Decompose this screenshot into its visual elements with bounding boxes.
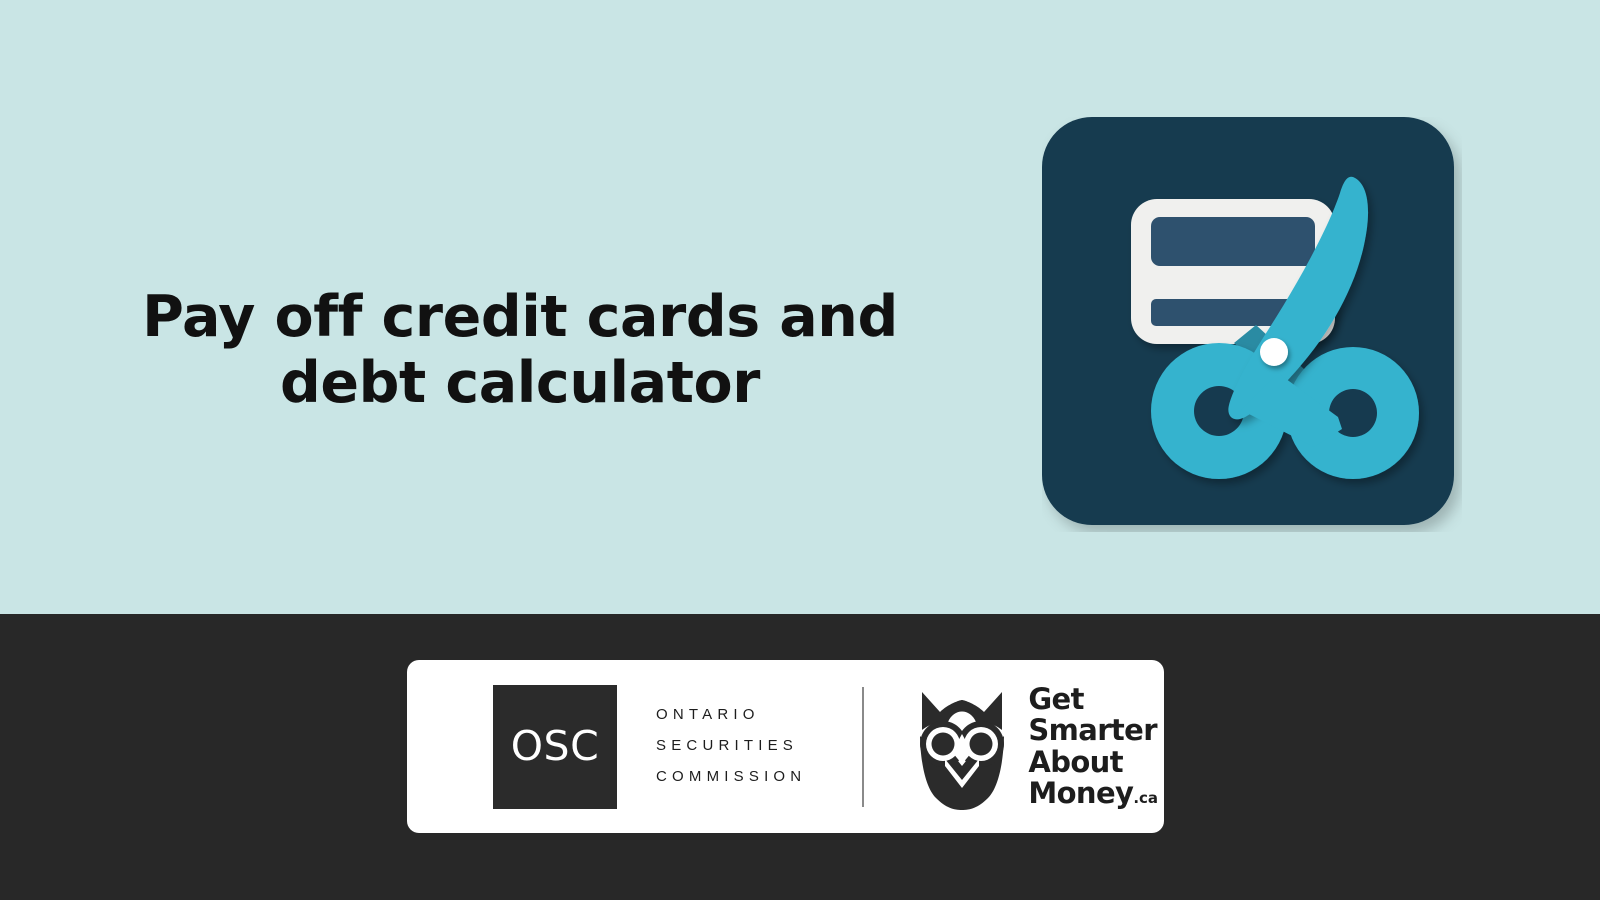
page-title: Pay off credit cards and debt calculator <box>120 284 920 416</box>
osc-logo: OSC ONTARIO SECURITIES COMMISSION <box>493 685 806 809</box>
owl-eye-right <box>970 732 993 755</box>
logo-lockup-card: OSC ONTARIO SECURITIES COMMISSION <box>407 660 1164 833</box>
gsam-line-2: Smarter <box>1028 715 1158 746</box>
osc-mark-label: OSC <box>511 726 599 767</box>
get-smarter-about-money-logo: Get Smarter About Money.ca <box>914 684 1158 810</box>
hero-section: Pay off credit cards and debt calculator <box>0 0 1600 614</box>
gsam-line-4-main: Money <box>1028 776 1133 810</box>
owl-eye-left <box>932 732 955 755</box>
credit-card-scissors-icon <box>1042 117 1462 532</box>
gsam-line-1: Get <box>1028 684 1158 715</box>
gsam-wordmark: Get Smarter About Money.ca <box>1028 684 1158 808</box>
gsam-line-4: Money.ca <box>1028 778 1158 809</box>
logo-divider <box>862 687 864 807</box>
osc-wordmark: ONTARIO SECURITIES COMMISSION <box>656 700 806 792</box>
gsam-line-3: About <box>1028 747 1158 778</box>
owl-icon <box>914 684 1010 810</box>
osc-mark-icon: OSC <box>493 685 617 809</box>
footer-bar: OSC ONTARIO SECURITIES COMMISSION <box>0 614 1600 900</box>
gsam-line-4-tld: .ca <box>1133 789 1158 807</box>
slide-canvas: Pay off credit cards and debt calculator <box>0 0 1600 900</box>
scissors-pivot-icon <box>1260 338 1288 366</box>
